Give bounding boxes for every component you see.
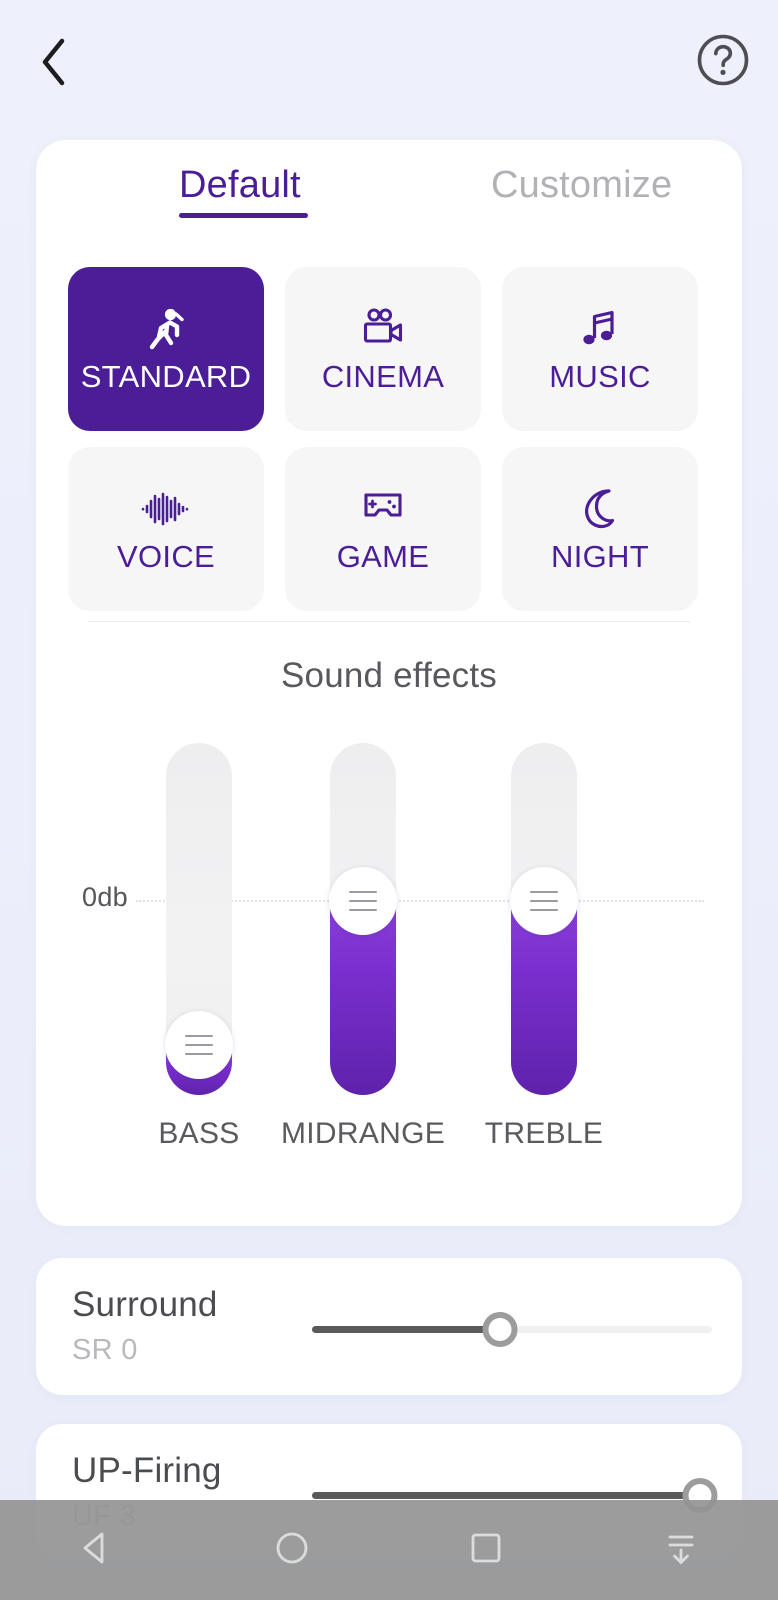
preset-label: NIGHT — [551, 539, 649, 575]
section-divider — [88, 621, 690, 622]
system-navigation-bar — [0, 1500, 778, 1600]
preset-game[interactable]: GAME — [285, 447, 481, 611]
back-button[interactable] — [24, 32, 84, 92]
eq-slider-label: BASS — [158, 1117, 239, 1151]
crescent-moon-icon — [579, 483, 621, 535]
eq-slider-group: BASS MIDRANGE — [36, 743, 742, 1163]
help-circle-icon — [696, 33, 750, 92]
grip-line — [349, 891, 377, 893]
waveform-icon — [141, 483, 191, 535]
back-triangle-icon — [75, 1526, 119, 1575]
slider-thumb[interactable] — [483, 1312, 518, 1347]
top-bar — [0, 0, 778, 122]
eq-slider-bass[interactable]: BASS — [166, 743, 232, 1095]
eq-thumb[interactable] — [329, 867, 397, 935]
eq-thumb[interactable] — [510, 867, 578, 935]
preset-label: MUSIC — [549, 359, 650, 395]
equalizer-card: Default Customize STANDARD — [36, 140, 742, 1226]
running-person-icon — [146, 303, 186, 355]
nav-hide-button[interactable] — [584, 1500, 778, 1600]
setting-title: Surround — [72, 1285, 218, 1325]
nav-recents-button[interactable] — [389, 1500, 584, 1600]
preset-cinema[interactable]: CINEMA — [285, 267, 481, 431]
grip-line — [530, 909, 558, 911]
preset-label: STANDARD — [81, 359, 252, 395]
preset-music[interactable]: MUSIC — [502, 267, 698, 431]
eq-slider-label: TREBLE — [485, 1117, 604, 1151]
preset-label: VOICE — [117, 539, 215, 575]
grip-line — [530, 891, 558, 893]
gamepad-icon — [361, 483, 405, 535]
zero-db-label: 0db — [82, 882, 128, 913]
nav-home-button[interactable] — [195, 1500, 390, 1600]
grip-line — [349, 909, 377, 911]
music-note-icon — [580, 303, 620, 355]
eq-thumb[interactable] — [165, 1011, 233, 1079]
eq-slider-label: MIDRANGE — [281, 1117, 445, 1151]
slider-fill — [312, 1492, 700, 1499]
tab-default[interactable]: Default — [179, 164, 301, 207]
tab-customize[interactable]: Customize — [491, 164, 672, 207]
sound-effects-title: Sound effects — [36, 656, 742, 696]
grip-line — [530, 900, 558, 902]
nav-back-button[interactable] — [0, 1500, 195, 1600]
tab-bar: Default Customize — [36, 140, 742, 240]
home-circle-icon — [270, 1526, 314, 1575]
preset-label: GAME — [337, 539, 430, 575]
grip-line — [185, 1053, 213, 1055]
preset-standard[interactable]: STANDARD — [68, 267, 264, 431]
setting-value-label: SR 0 — [72, 1334, 138, 1367]
movie-camera-icon — [360, 303, 406, 355]
help-button[interactable] — [694, 33, 752, 91]
preset-grid: STANDARD CINEMA — [68, 267, 710, 611]
preset-voice[interactable]: VOICE — [68, 447, 264, 611]
grip-line — [185, 1035, 213, 1037]
setting-card-surround: Surround SR 0 — [36, 1258, 742, 1395]
eq-slider-treble[interactable]: TREBLE — [511, 743, 577, 1095]
recents-square-icon — [464, 1526, 508, 1575]
surround-slider[interactable] — [312, 1314, 712, 1344]
setting-title: UP-Firing — [72, 1451, 222, 1491]
eq-slider-midrange[interactable]: MIDRANGE — [330, 743, 396, 1095]
tab-active-underline — [179, 213, 308, 218]
preset-label: CINEMA — [322, 359, 444, 395]
chevron-left-icon — [39, 37, 69, 87]
preset-night[interactable]: NIGHT — [502, 447, 698, 611]
slider-fill — [312, 1326, 500, 1333]
hide-navbar-icon — [659, 1526, 703, 1575]
grip-line — [185, 1044, 213, 1046]
grip-line — [349, 900, 377, 902]
